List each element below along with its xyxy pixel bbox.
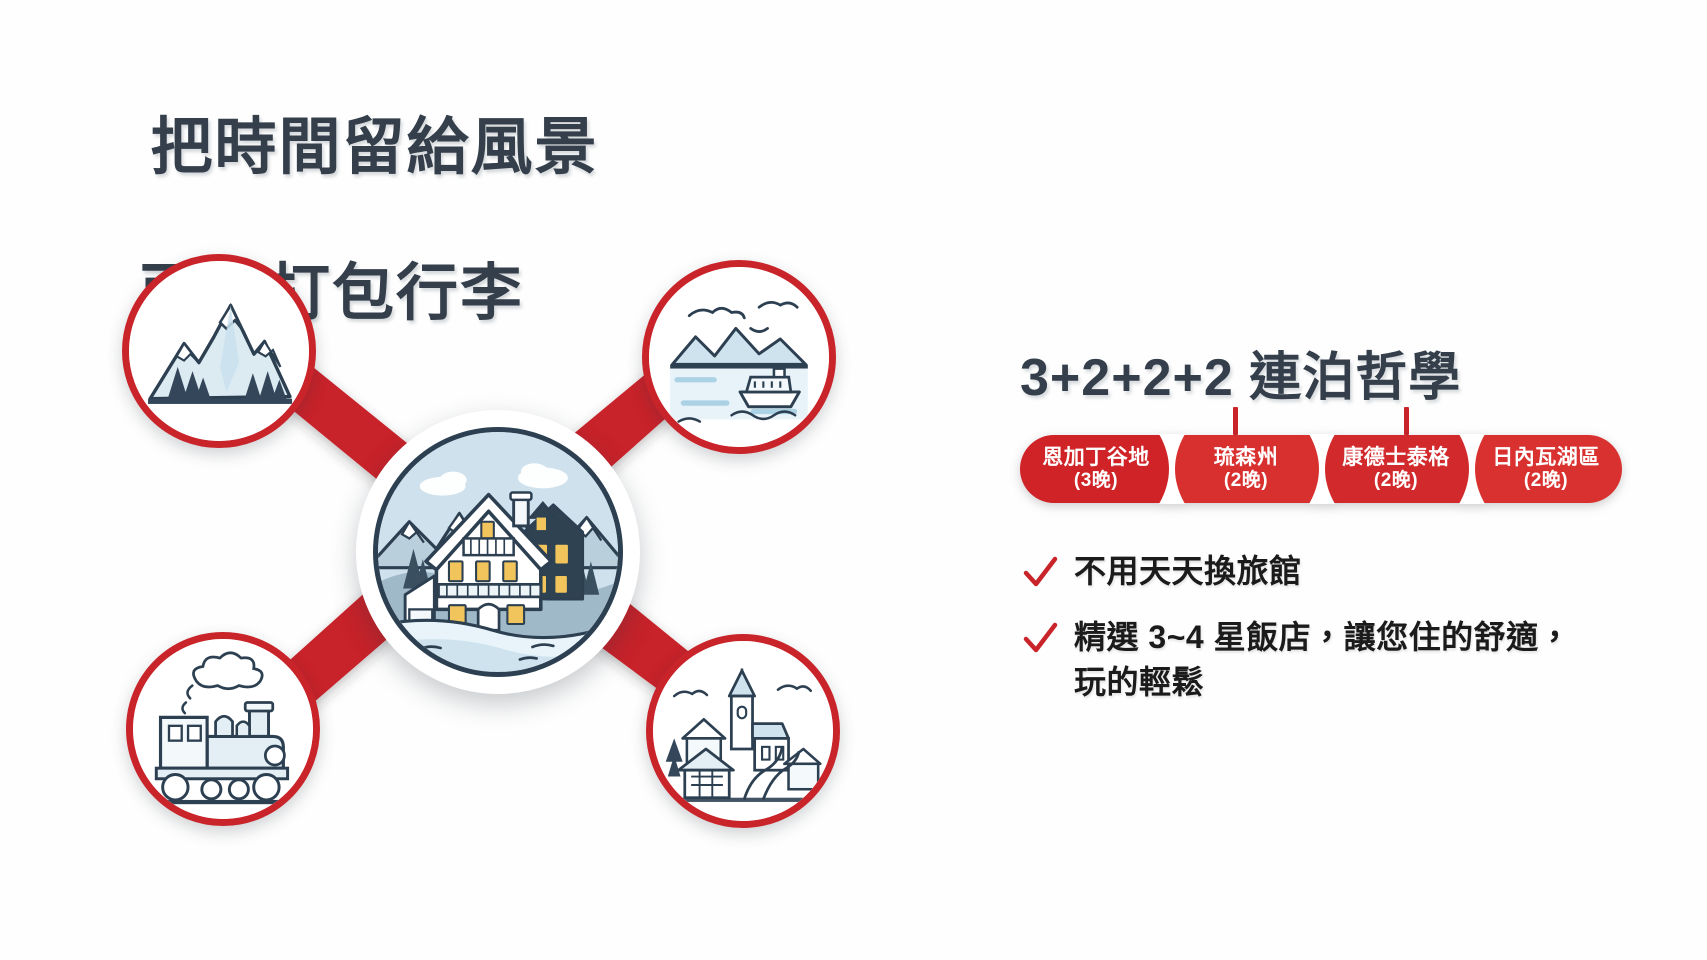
chip-nights: (2晚) [1524,470,1568,492]
itinerary-chip[interactable]: 康德士泰格 (2晚) [1320,435,1472,503]
page-title-line-1: 把時間留給風景 [150,113,598,182]
stem-right [1404,407,1409,435]
mountain-peaks-icon [129,261,309,441]
stem-left [1233,407,1238,435]
steam-train-icon [133,639,313,819]
check-icon [1020,553,1060,593]
itinerary-chip-band: 恩加丁谷地 (3晚) 琉森州 (2晚) 康德士泰格 (2晚) 日內瓦湖區 (2晚… [1020,435,1620,503]
center-hub-ring [373,427,623,677]
node-lake-cruise[interactable] [642,260,836,454]
chip-name: 琉森州 [1214,446,1279,470]
philosophy-panel: 3+2+2+2 連泊哲學 恩加丁谷地 (3晚) 琉森州 (2晚) 康德士泰格 (… [1020,350,1660,726]
chip-nights: (2晚) [1374,470,1418,492]
chip-connector-stems [1020,407,1660,435]
itinerary-chip[interactable]: 琉森州 (2晚) [1170,435,1322,503]
hub-and-spoke-diagram [90,230,880,850]
benefit-text: 不用天天換旅館 [1074,549,1302,593]
list-item: 不用天天換旅館 [1020,549,1660,593]
node-mountain[interactable] [122,254,316,448]
chip-name: 恩加丁谷地 [1042,446,1150,470]
chip-name: 康德士泰格 [1342,446,1450,470]
node-alpine-village[interactable] [646,634,840,828]
chip-nights: (2晚) [1224,470,1268,492]
alpine-village-church-icon [653,641,833,821]
benefit-text: 精選 3~4 星飯店，讓您住的舒適，玩的輕鬆 [1074,615,1574,703]
node-scenic-train[interactable] [126,632,320,826]
chip-nights: (3晚) [1074,470,1118,492]
node-center-hub[interactable] [356,410,640,694]
check-icon [1020,619,1060,659]
benefit-list: 不用天天換旅館 精選 3~4 星飯店，讓您住的舒適，玩的輕鬆 [1020,549,1660,703]
philosophy-heading: 3+2+2+2 連泊哲學 [1020,350,1660,407]
itinerary-chip[interactable]: 恩加丁谷地 (3晚) [1020,435,1172,503]
list-item: 精選 3~4 星飯店，讓您住的舒適，玩的輕鬆 [1020,615,1660,703]
chip-name: 日內瓦湖區 [1492,446,1600,470]
lake-boat-icon [649,267,829,447]
itinerary-chip[interactable]: 日內瓦湖區 (2晚) [1470,435,1622,503]
alpine-chalet-icon [378,432,618,672]
